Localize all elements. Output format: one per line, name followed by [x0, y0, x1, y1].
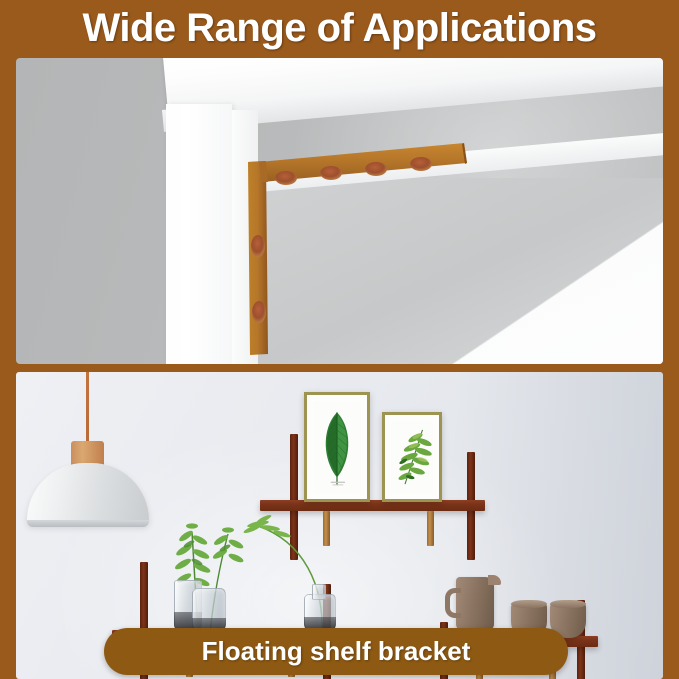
art-canvas-olive-branch: [391, 421, 433, 493]
panel-floating-shelves: Floating shelf bracket: [16, 372, 663, 679]
l-corner-bracket: [16, 58, 663, 364]
mug-right-rim: [550, 600, 586, 608]
panel-furniture-corner: Fixing furniture for a longer life: [16, 58, 663, 364]
pendant-lamp-cord: [86, 372, 89, 444]
banana-leaf-illustration: [313, 401, 361, 493]
art-frame-banana-leaf: [304, 392, 370, 502]
poster-header: Wide Range of Applications: [0, 0, 679, 56]
product-infographic-poster: Wide Range of Applications: [0, 0, 679, 679]
caption-text-floating-shelf: Floating shelf bracket: [202, 636, 471, 667]
pendant-lamp-rim: [27, 520, 149, 527]
ceramic-pitcher: [456, 577, 494, 631]
page-title: Wide Range of Applications: [82, 6, 596, 51]
furniture-corner-photo: [16, 58, 663, 364]
bracket-vertical-arm: [248, 161, 268, 355]
olive-branch-illustration: [391, 421, 433, 493]
art-frame-olive-branch: [382, 412, 442, 502]
frame-border-right: [663, 56, 679, 679]
bracket-horizontal-arm: [259, 143, 467, 185]
frame-border-left: [0, 56, 16, 679]
glass-vase-short-neck: [312, 584, 326, 600]
art-canvas-banana-leaf: [313, 401, 361, 493]
pitcher-handle: [445, 588, 461, 618]
upper-shelf-dowel-2: [427, 511, 434, 546]
mug-left-rim: [511, 600, 547, 608]
caption-pill-floating-shelf: Floating shelf bracket: [104, 628, 568, 675]
